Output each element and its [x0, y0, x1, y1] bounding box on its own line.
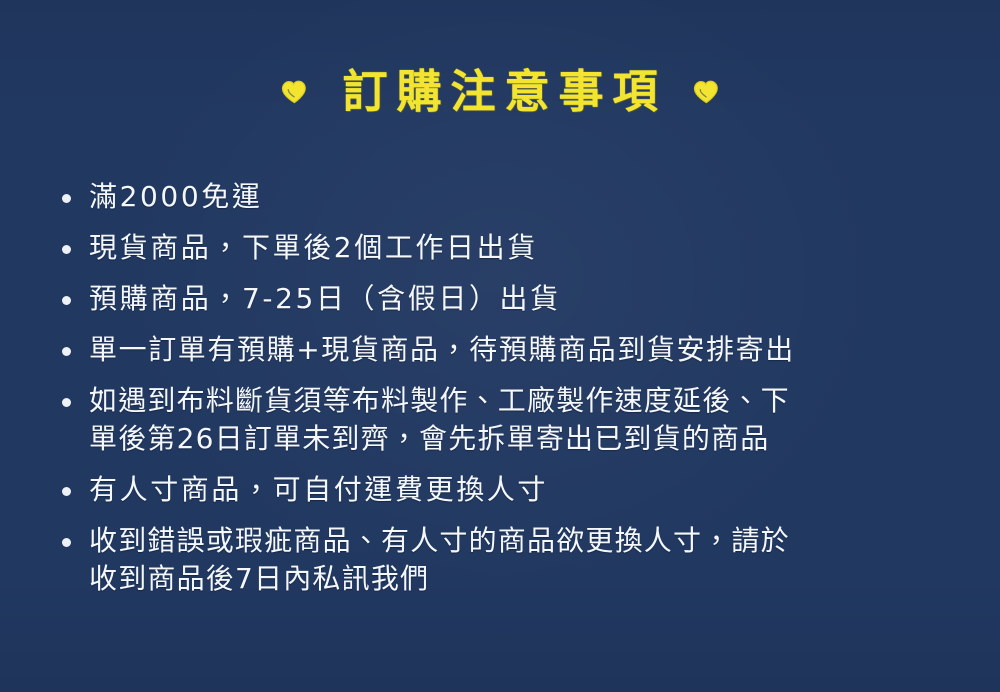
bullet-icon	[62, 245, 71, 254]
heart-icon-left	[281, 78, 308, 105]
notice-poster: 訂購注意事項 滿2000免運 現貨商品，下單後2個工作日出貨 預購商品，7-25…	[0, 0, 1000, 692]
list-item-text: 單一訂單有預購+現貨商品，待預購商品到貨安排寄出	[89, 331, 795, 369]
bullet-icon	[62, 194, 71, 203]
list-item: 單一訂單有預購+現貨商品，待預購商品到貨安排寄出	[62, 331, 962, 369]
list-item: 有人寸商品，可自付運費更換人寸	[62, 471, 962, 509]
list-item-text: 如遇到布料斷貨須等布料製作、工廠製作速度延後、下 單後第26日訂單未到齊，會先拆…	[89, 382, 790, 458]
list-item: 預購商品，7-25日（含假日）出貨	[62, 280, 962, 318]
list-item-text: 有人寸商品，可自付運費更換人寸	[89, 471, 548, 509]
list-item-text: 收到錯誤或瑕疵商品、有人寸的商品欲更換人寸，請於 收到商品後7日內私訊我們	[89, 522, 790, 598]
notice-list: 滿2000免運 現貨商品，下單後2個工作日出貨 預購商品，7-25日（含假日）出…	[62, 178, 962, 611]
list-item-text: 預購商品，7-25日（含假日）出貨	[89, 280, 561, 318]
list-item: 滿2000免運	[62, 178, 962, 216]
poster-title-row: 訂購注意事項	[0, 68, 1000, 115]
list-item: 收到錯誤或瑕疵商品、有人寸的商品欲更換人寸，請於 收到商品後7日內私訊我們	[62, 522, 962, 598]
bullet-icon	[62, 538, 71, 547]
bullet-icon	[62, 296, 71, 305]
bullet-icon	[62, 487, 71, 496]
bullet-icon	[62, 347, 71, 356]
list-item-text: 滿2000免運	[89, 178, 262, 216]
page-title: 訂購注意事項	[333, 68, 666, 115]
heart-icon-right	[692, 78, 719, 105]
list-item: 如遇到布料斷貨須等布料製作、工廠製作速度延後、下 單後第26日訂單未到齊，會先拆…	[62, 382, 962, 458]
list-item: 現貨商品，下單後2個工作日出貨	[62, 229, 962, 267]
list-item-text: 現貨商品，下單後2個工作日出貨	[89, 229, 538, 267]
bullet-icon	[62, 398, 71, 407]
